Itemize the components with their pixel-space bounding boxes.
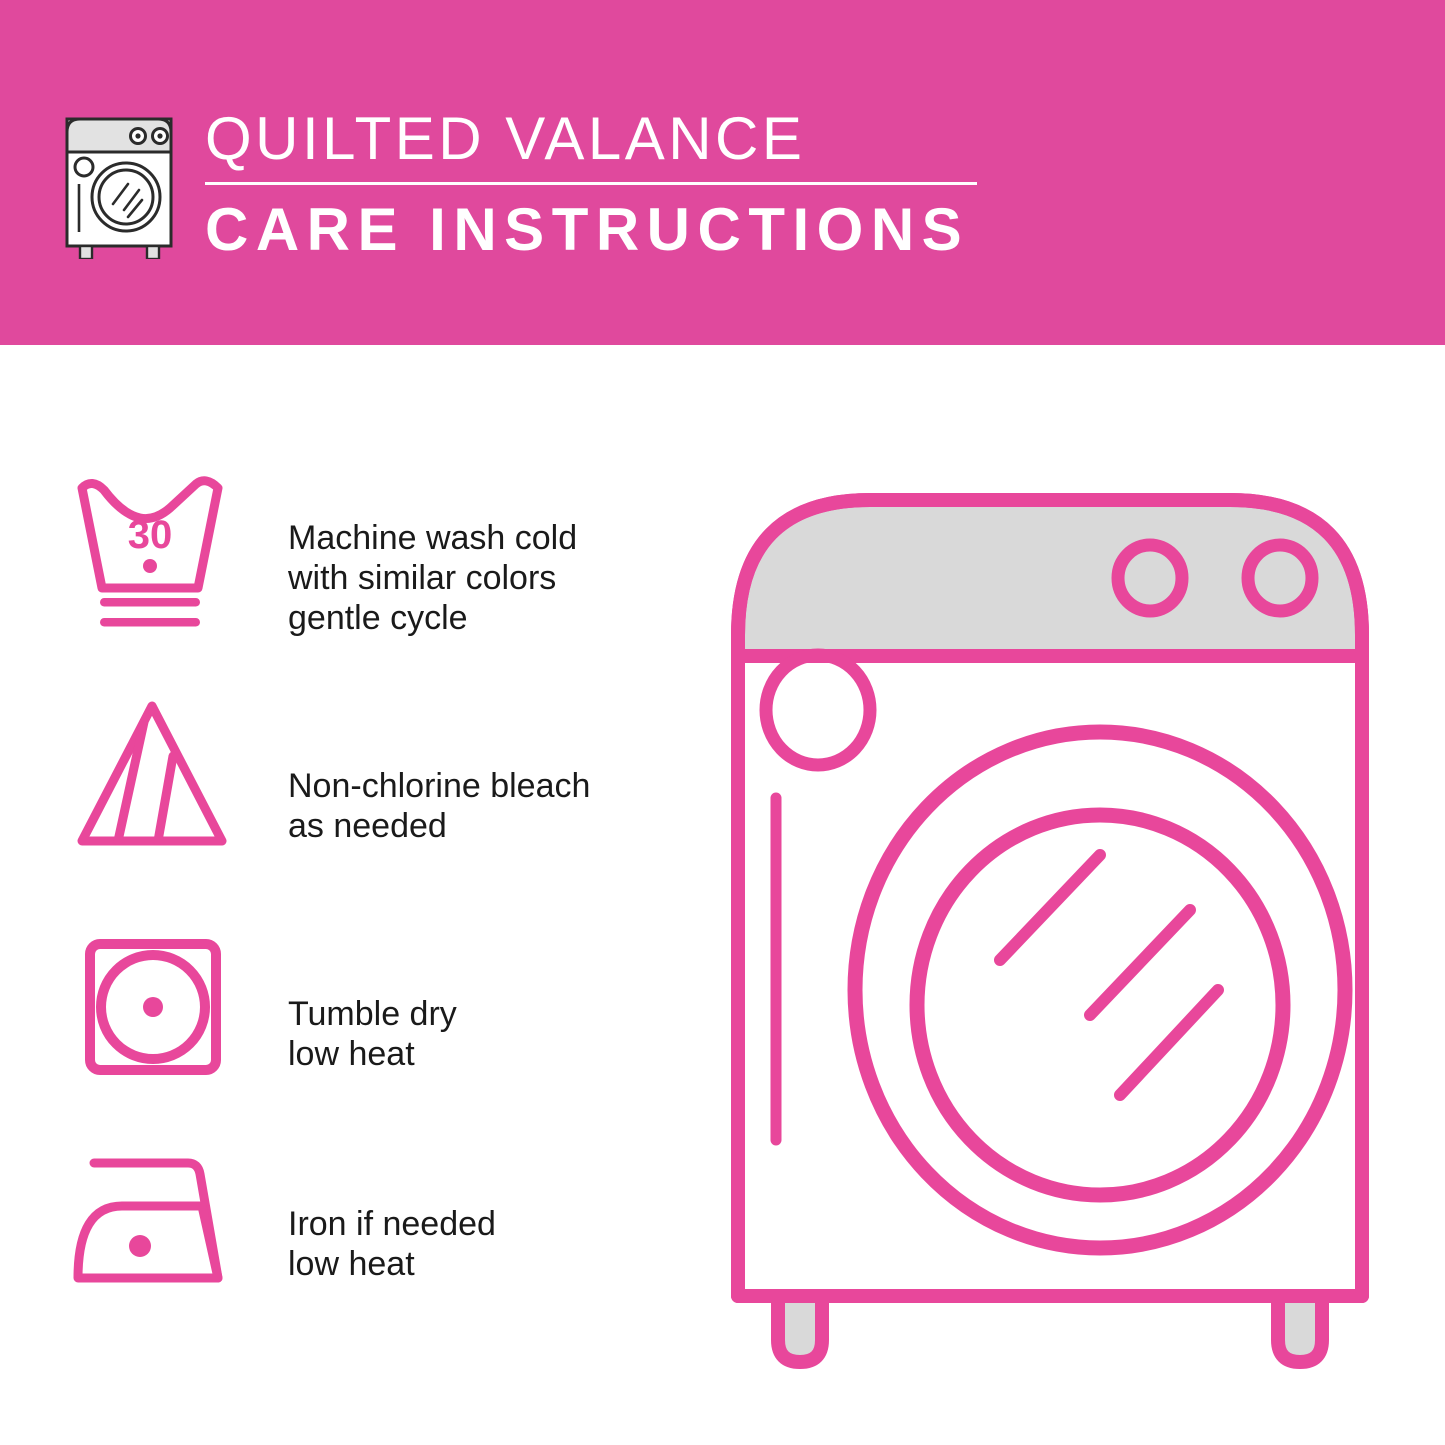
- tumble-dry-low-heat-icon: [70, 922, 240, 1092]
- washer-body: [738, 656, 1362, 1296]
- header-text-block: QUILTED VALANCE CARE INSTRUCTIONS: [205, 100, 995, 267]
- care-item-line: Tumble dry: [288, 994, 648, 1034]
- care-instructions-page: QUILTED VALANCE CARE INSTRUCTIONS 30: [0, 0, 1445, 1445]
- care-item-line: Non-chlorine bleach: [288, 766, 648, 806]
- care-item-label: Tumble dry low heat: [288, 994, 648, 1074]
- care-item-iron: Iron if needed low heat: [0, 1138, 660, 1328]
- care-item-line: with similar colors: [288, 558, 648, 598]
- title-divider: [205, 182, 977, 185]
- page-subtitle: CARE INSTRUCTIONS: [205, 193, 995, 267]
- washing-machine-icon: [58, 104, 188, 259]
- care-item-label: Machine wash cold with similar colors ge…: [288, 518, 648, 638]
- care-item-line: gentle cycle: [288, 598, 648, 638]
- care-item-line: low heat: [288, 1244, 648, 1284]
- page-title: QUILTED VALANCE: [205, 100, 995, 178]
- care-item-label: Non-chlorine bleach as needed: [288, 766, 648, 846]
- care-item-machine-wash: 30 Machine wash cold with similar colors…: [0, 470, 660, 660]
- care-item-line: Iron if needed: [288, 1204, 648, 1244]
- washer-control-panel: [738, 500, 1362, 656]
- washer-leg-right: [1278, 1296, 1322, 1362]
- iron-low-heat-icon: [70, 1138, 240, 1308]
- care-item-line: low heat: [288, 1034, 648, 1074]
- care-item-label: Iron if needed low heat: [288, 1204, 648, 1284]
- care-item-tumble-dry: Tumble dry low heat: [0, 922, 660, 1112]
- non-chlorine-bleach-triangle-icon: [70, 696, 240, 866]
- wash-temp-value: 30: [128, 513, 173, 557]
- washing-machine-illustration: [700, 460, 1400, 1380]
- care-item-line: as needed: [288, 806, 648, 846]
- care-item-line: Machine wash cold: [288, 518, 648, 558]
- washer-leg-left: [778, 1296, 822, 1362]
- care-item-bleach: Non-chlorine bleach as needed: [0, 696, 660, 886]
- header-band: QUILTED VALANCE CARE INSTRUCTIONS: [0, 0, 1445, 345]
- wash-basin-30-gentle-icon: 30: [70, 470, 240, 640]
